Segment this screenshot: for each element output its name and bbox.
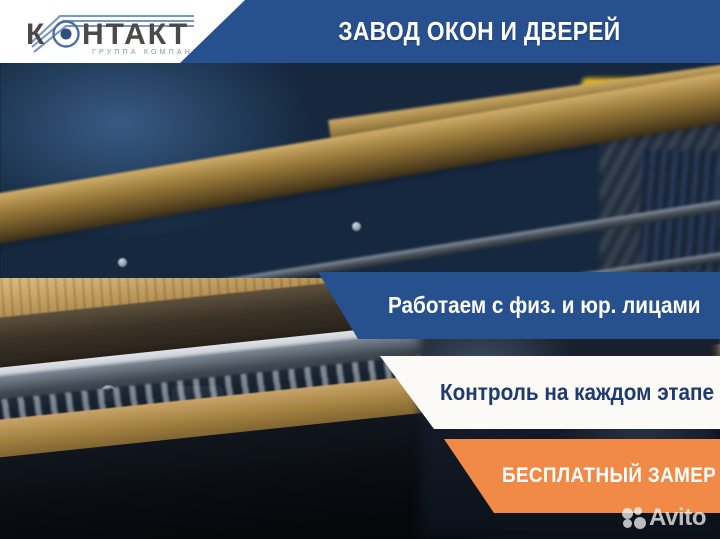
feature-band-orange-text: БЕСПЛАТНЫЙ ЗАМЕР — [502, 464, 716, 488]
svg-text:К: К — [26, 18, 45, 51]
kontakt-logo-icon: К НТАКТ ГРУППА КОМПАНИЙ — [18, 8, 198, 56]
logo-tagline: ГРУППА КОМПАНИЙ — [92, 47, 198, 56]
svg-text:НТАКТ: НТАКТ — [82, 18, 189, 51]
kontakt-logo: К НТАКТ ГРУППА КОМПАНИЙ — [18, 8, 198, 56]
feature-band-blue: Работаем с физ. и юр. лицами — [318, 272, 720, 339]
advertisement-banner: 5F — [0, 0, 720, 539]
header-banner: ЗАВОД ОКОН И ДВЕРЕЙ — [180, 0, 720, 63]
feature-band-blue-text: Работаем с физ. и юр. лицами — [388, 292, 701, 319]
bolt — [118, 258, 127, 267]
bolt — [352, 222, 361, 231]
feature-band-white-text: Контроль на каждом этапе — [440, 379, 714, 406]
feature-band-white: Контроль на каждом этапе — [374, 356, 720, 429]
header-banner-text: ЗАВОД ОКОН И ДВЕРЕЙ — [338, 16, 620, 47]
